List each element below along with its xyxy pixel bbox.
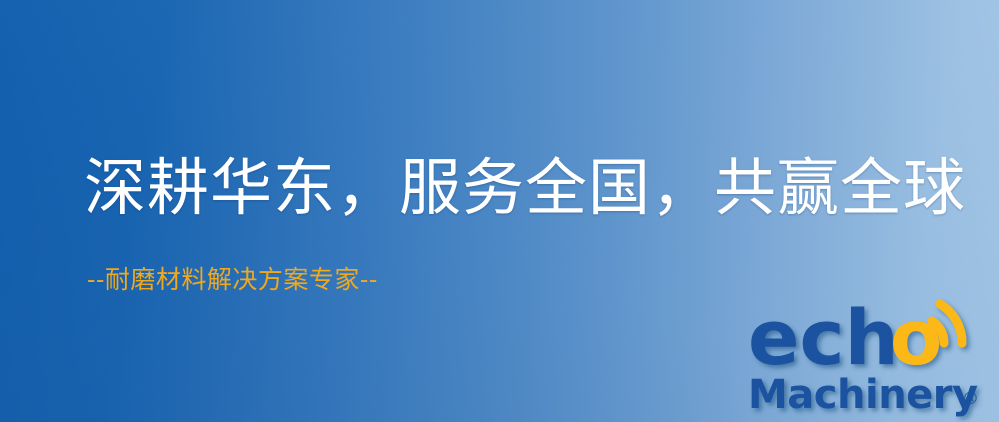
banner-headline: 深耕华东，服务全国，共赢全球 bbox=[84, 155, 966, 220]
logo-trademark-symbol: ® bbox=[962, 389, 979, 409]
logo-echo-text: ech bbox=[748, 293, 899, 382]
company-logo[interactable]: ech o Machinery ® bbox=[748, 296, 999, 422]
banner-subtitle: --耐磨材料解决方案专家-- bbox=[87, 266, 378, 294]
logo-o-letter: o bbox=[890, 293, 942, 382]
logo-tagline-text: Machinery bbox=[748, 372, 978, 418]
promo-banner: 深耕华东，服务全国，共赢全球 --耐磨材料解决方案专家-- ech o Mach… bbox=[0, 0, 999, 422]
